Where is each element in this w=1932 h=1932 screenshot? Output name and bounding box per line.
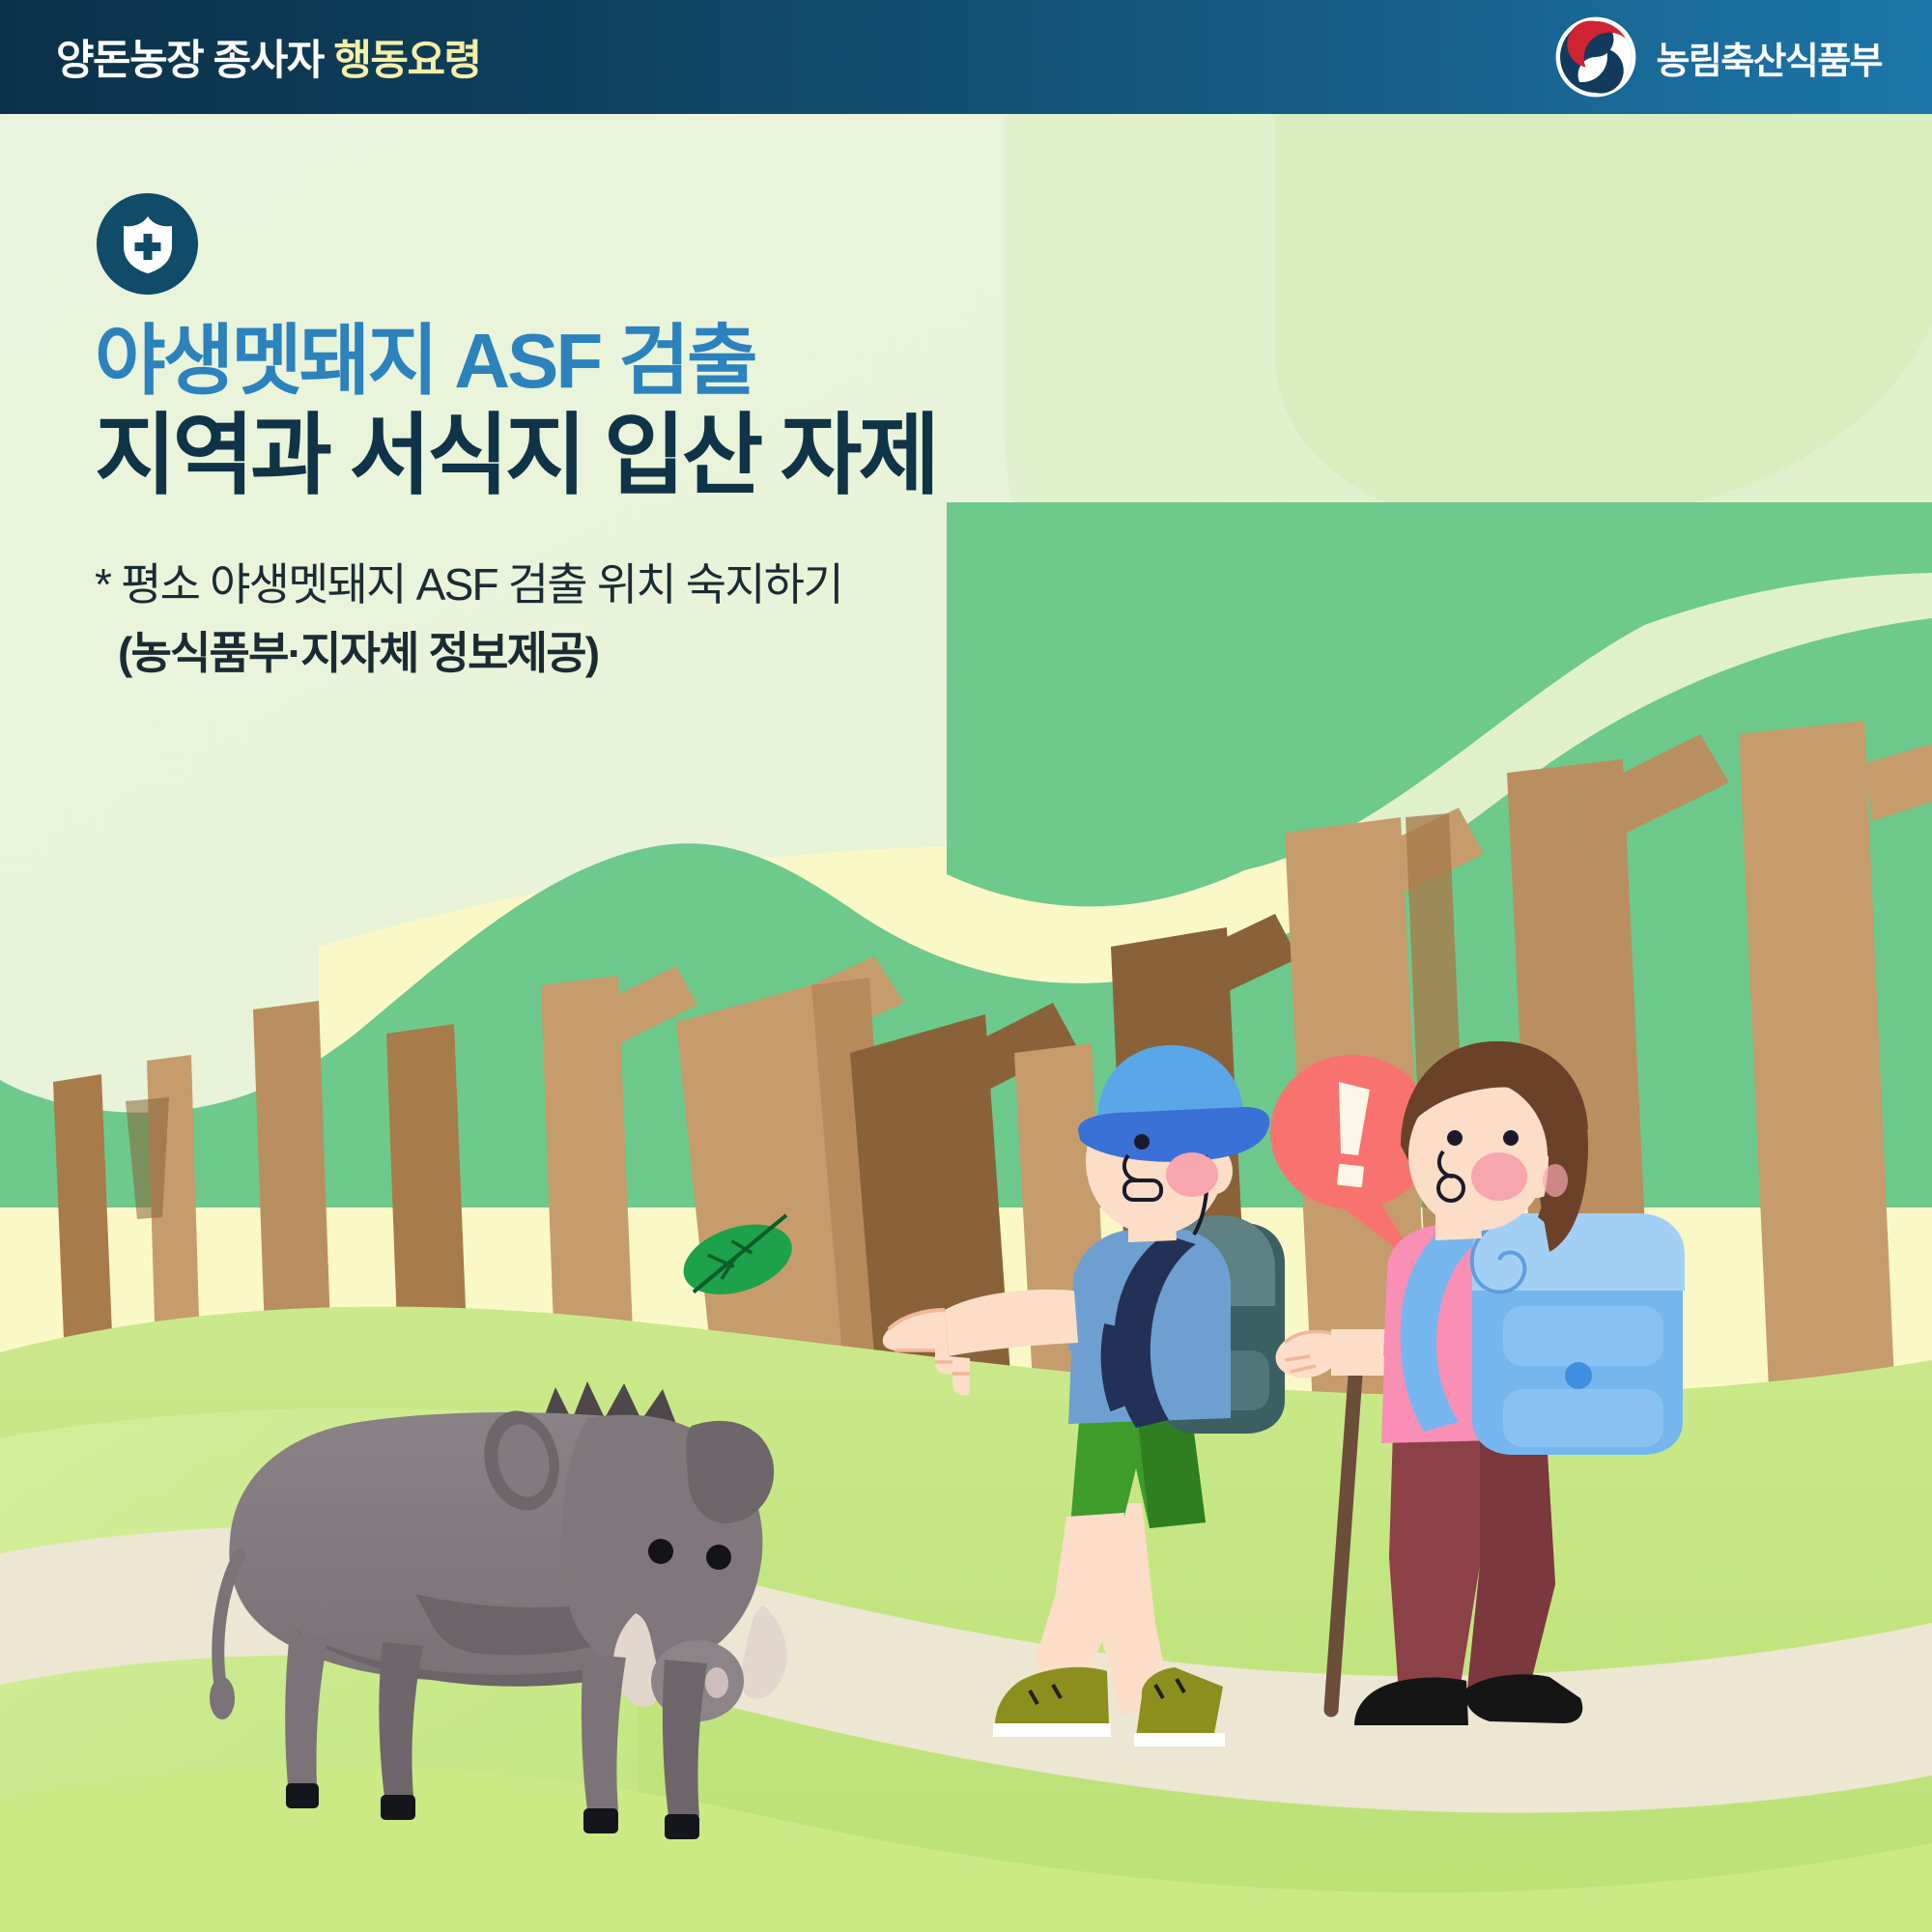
- subtext-line-1: * 평소 야생멧돼지 ASF 검출 위치 숙지하기: [95, 551, 936, 619]
- shield-plus-icon: [97, 193, 198, 295]
- poster-root: 양돈농장 종사자 행동요령 농림축산식품부 야생멧돼지 ASF 검출 지역과 서…: [0, 0, 1932, 1932]
- headline-line-2: 지역과 서식지 입산 자제: [95, 409, 936, 504]
- page-header: 양돈농장 종사자 행동요령 농림축산식품부: [0, 0, 1932, 114]
- header-title-highlight: 행동요령: [333, 38, 480, 84]
- korea-government-taegeuk-logo: [1553, 14, 1638, 99]
- forest-illustration: [0, 0, 1932, 1932]
- ministry-brand: 농림축산식품부: [1553, 14, 1882, 99]
- header-title-main: 양돈농장 종사자: [56, 38, 333, 84]
- subtext-line-2: (농식품부·지자체 정보제공): [118, 619, 598, 688]
- headline-block: 야생멧돼지 ASF 검출 지역과 서식지 입산 자제 * 평소 야생멧돼지 AS…: [95, 321, 936, 689]
- shield-icon: [121, 214, 175, 274]
- ministry-name: 농림축산식품부: [1656, 31, 1882, 84]
- headline-line-1: 야생멧돼지 ASF 검출: [95, 321, 936, 403]
- subtext-block: * 평소 야생멧돼지 ASF 검출 위치 숙지하기 (농식품부·지자체 정보제공…: [95, 551, 936, 689]
- header-title: 양돈농장 종사자 행동요령: [56, 27, 481, 87]
